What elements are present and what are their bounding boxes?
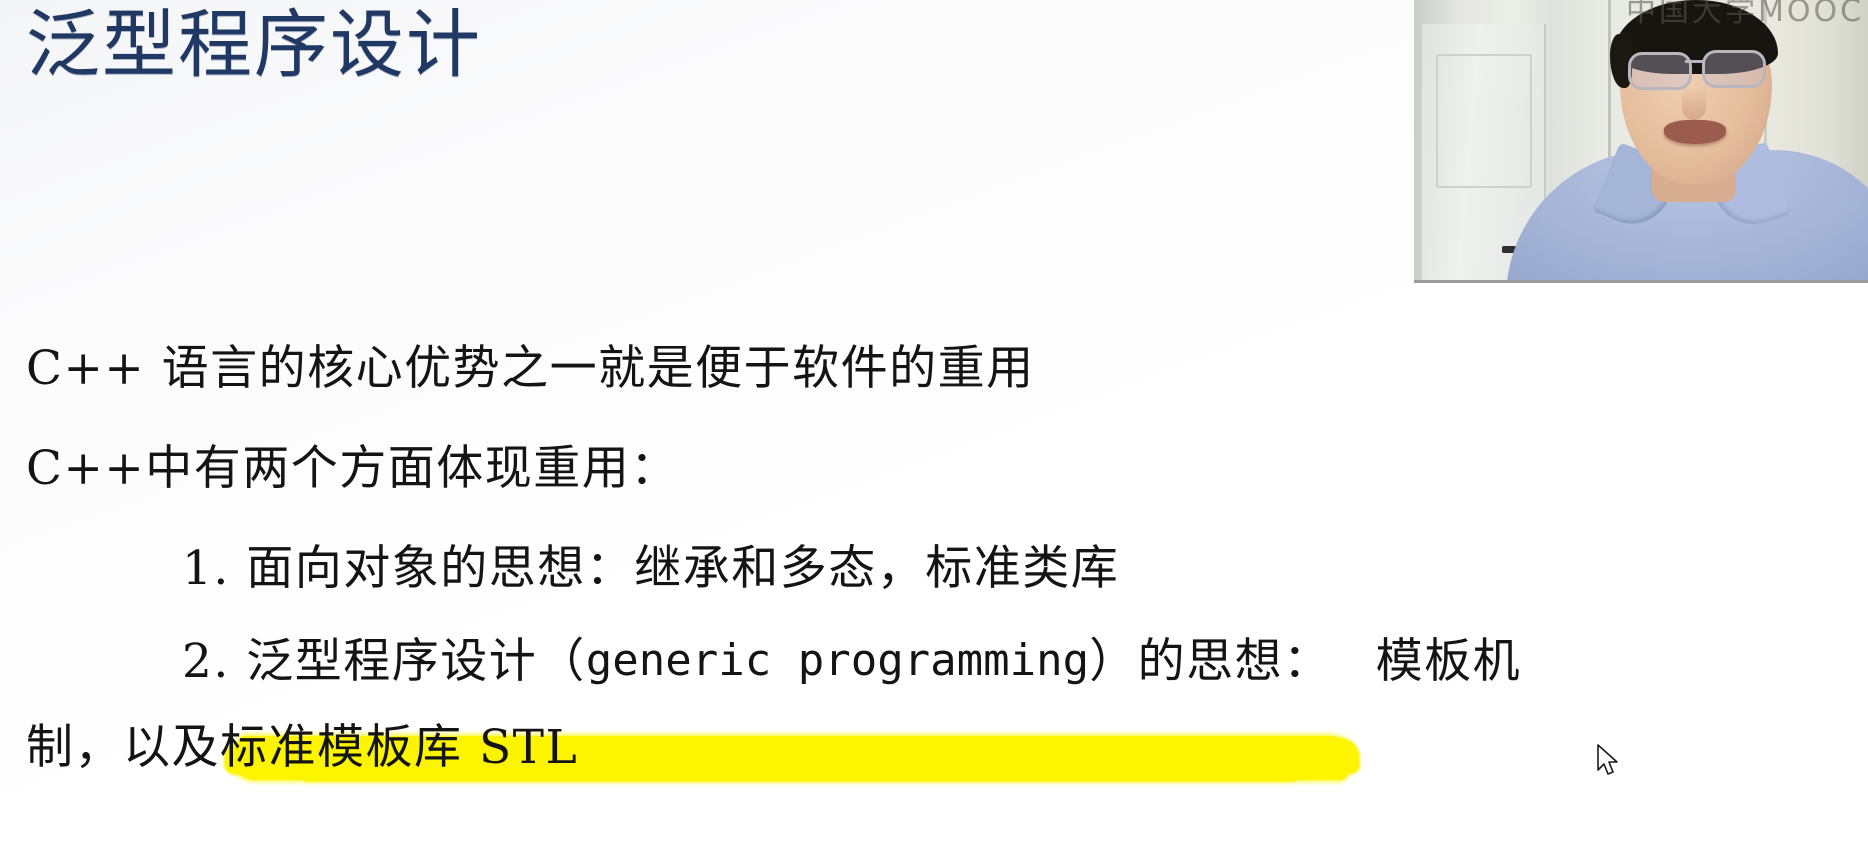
presenter-glasses-bridge	[1685, 60, 1704, 63]
body-list-item-1-text: 1. 面向对象的思想：继承和多态，标准类库	[182, 545, 1119, 592]
body-list-item-2-code: generic programming	[586, 639, 1089, 683]
body-list-item-2-paren-close: ）	[1089, 638, 1138, 685]
body-line-2: C++中有两个方面体现重用：	[0, 418, 1868, 518]
webcam-watermark-text: 中国大学MOOC	[1626, 0, 1864, 30]
body-line-2-text: C++中有两个方面体现重用：	[26, 445, 679, 492]
body-list-item-2-paren-open: （	[537, 638, 586, 685]
presenter-glasses-left-lens	[1628, 52, 1692, 90]
body-line-1-text: C++ 语言的核心优势之一就是便于软件的重用	[26, 345, 1035, 392]
body-list-item-2: 2. 泛型程序设计（generic programming）的思想：模板机	[0, 618, 1868, 704]
presenter-glasses-right-lens	[1702, 50, 1766, 88]
slide-body: C++ 语言的核心优势之一就是便于软件的重用 C++中有两个方面体现重用： 1.…	[0, 318, 1868, 790]
body-list-item-2-tail: 模板机	[1332, 638, 1522, 685]
body-line-1: C++ 语言的核心优势之一就是便于软件的重用	[0, 318, 1868, 418]
body-list-item-2-prefix: 2. 泛型程序设计	[182, 638, 537, 685]
body-line-5-text: 制，以及标准模板库 STL	[26, 724, 578, 771]
presenter-nose	[1682, 86, 1706, 120]
presenter-mouth	[1664, 120, 1726, 144]
presentation-slide: 泛型程序设计 C++ 语言的核心优势之一就是便于软件的重用 C++中有两个方面体…	[0, 0, 1868, 858]
page-title: 泛型程序设计	[26, 4, 482, 87]
body-list-item-1: 1. 面向对象的思想：继承和多态，标准类库	[0, 518, 1868, 618]
presenter-webcam-overlay[interactable]: 中国大学MOOC	[1414, 0, 1868, 283]
body-list-item-2-suffix: 的思想：	[1138, 638, 1332, 685]
